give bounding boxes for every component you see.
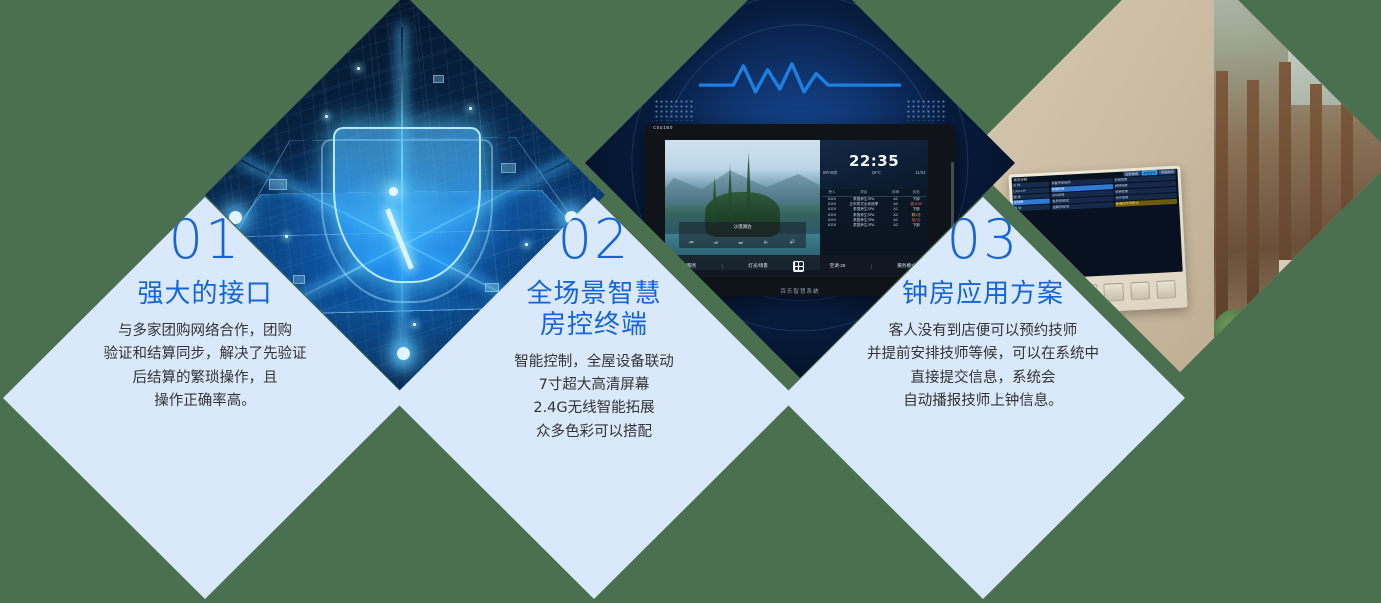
tablet-brand-label: CSUIBO	[653, 126, 673, 131]
dot-texture	[654, 99, 694, 121]
circuit-spark	[325, 115, 328, 118]
volume-down-icon[interactable]: 🔈	[763, 239, 769, 245]
date-label: 11/24	[915, 170, 925, 176]
th-room: 房人	[822, 190, 843, 195]
card-03-body: 客人没有到店便可以预约技师 并提前安排技师等候，可以在系统中 直接提交信息，系统…	[825, 320, 1140, 414]
circuit-chip	[293, 275, 305, 284]
circuit-spark	[285, 235, 288, 238]
panel-tab-floor[interactable]: 本楼层房	[1141, 170, 1158, 176]
wood-slat	[1247, 80, 1259, 321]
dot-texture	[906, 99, 946, 121]
wood-slat	[1279, 62, 1291, 320]
btn-lighting-scene[interactable]: 灯光/场景	[748, 263, 768, 269]
circuit-spark	[469, 107, 472, 110]
tablet-wallpaper: 沙漠湖泊 ⏮ ⏯ ⏭ 🔈 🔊	[665, 140, 819, 271]
tablet-side-button[interactable]	[951, 162, 954, 231]
room-label: SPA6房	[823, 170, 838, 176]
glow-node-left	[229, 211, 242, 224]
panel-menu-direct[interactable]: 直 钟	[1013, 205, 1050, 212]
keyhole-icon	[389, 187, 398, 196]
th-status: 状态	[906, 190, 927, 195]
potted-plant	[1270, 339, 1328, 372]
clock-meta: SPA6房 26℃ 11/24	[823, 170, 926, 176]
circuit-chip	[501, 163, 516, 173]
panel-button[interactable]	[1130, 281, 1150, 300]
td-room: 6119	[822, 223, 843, 228]
btn-air-conditioner[interactable]: 空调·26	[830, 263, 846, 269]
tablet-screen[interactable]: 沙漠湖泊 ⏮ ⏯ ⏭ 🔈 🔊 22:35	[665, 140, 928, 271]
th-tech: 钟师	[885, 190, 906, 195]
panel-title: 客房控制	[1014, 177, 1028, 183]
potted-plant	[1212, 309, 1258, 363]
wood-slat	[1341, 71, 1353, 320]
pulse-wave-icon	[699, 60, 901, 99]
circuit-spark	[357, 67, 360, 70]
circuit-chip	[485, 283, 499, 292]
panel-tab-all[interactable]: 全部房间	[1123, 171, 1140, 177]
td-service: 泰国养生SPA	[842, 223, 885, 228]
diamond-feature-showcase: CSUIBO 沙漠湖泊 ⏮ ⏯	[0, 0, 1381, 603]
th-service: 项目	[842, 190, 885, 195]
home-grid-icon[interactable]	[793, 261, 804, 272]
media-prev-icon[interactable]: ⏮	[690, 240, 694, 245]
room-floor	[1279, 260, 1381, 372]
panel-button[interactable]	[1157, 280, 1177, 299]
smart-control-tablet[interactable]: CSUIBO 沙漠湖泊 ⏮ ⏯	[645, 124, 955, 296]
card-02-body: 智能控制，全屋设备联动 7寸超大高清屏幕 2.4G无线智能拓展 众多色彩可以搭配	[436, 351, 751, 445]
panel-tab-idle[interactable]: 空闲房间	[1159, 169, 1176, 175]
media-next-icon[interactable]: ⏭	[739, 240, 743, 245]
btn-call-service[interactable]: 呼叫服务	[678, 263, 696, 269]
clock-time: 22:35	[823, 154, 926, 169]
td-tech: A2	[885, 223, 906, 228]
media-play-icon[interactable]: ⏯	[714, 240, 718, 245]
panel-button[interactable]	[1104, 282, 1124, 301]
panel-item-grid[interactable]: 保健专享技师 区间控房 保健控房 排钟控房 SPA区房 轮钟控房 客房控制/区 …	[1048, 169, 1183, 279]
circuit-spark	[413, 323, 416, 326]
wallpaper-label: 沙漠湖泊	[679, 224, 806, 230]
circuit-spark	[525, 243, 528, 246]
card-01-body: 与多家团购网络合作，团购 验证和结算同步，解决了先验证 后结算的繁琐操作，且 操…	[47, 320, 362, 414]
media-overlay-bar[interactable]: 沙漠湖泊 ⏮ ⏯ ⏭ 🔈 🔊	[679, 222, 806, 248]
tablet-side-panel: 22:35 SPA6房 26℃ 11/24 房人 项目 钟师	[820, 140, 929, 271]
circuit-chip	[433, 75, 444, 83]
divider: |	[871, 264, 872, 269]
temperature-label: 26℃	[872, 170, 881, 176]
wood-slat	[1216, 71, 1228, 320]
tablet-bottom-bar[interactable]: 呼叫服务 | 灯光/场景 空调·26 | 服务模式	[665, 255, 928, 277]
glow-node-bottom	[397, 347, 410, 360]
td-status: 下钟	[906, 223, 927, 228]
table-row: 6119 泰国养生SPA A2 下钟	[822, 223, 927, 228]
circuit-chip	[269, 179, 287, 190]
clock-widget: 22:35 SPA6房 26℃ 11/24	[820, 140, 929, 190]
media-controls[interactable]: ⏮ ⏯ ⏭ 🔈 🔊	[679, 239, 806, 245]
divider: |	[722, 264, 723, 269]
volume-up-icon[interactable]: 🔊	[790, 239, 796, 245]
wood-slat	[1310, 84, 1322, 321]
room-window	[1288, 0, 1381, 105]
